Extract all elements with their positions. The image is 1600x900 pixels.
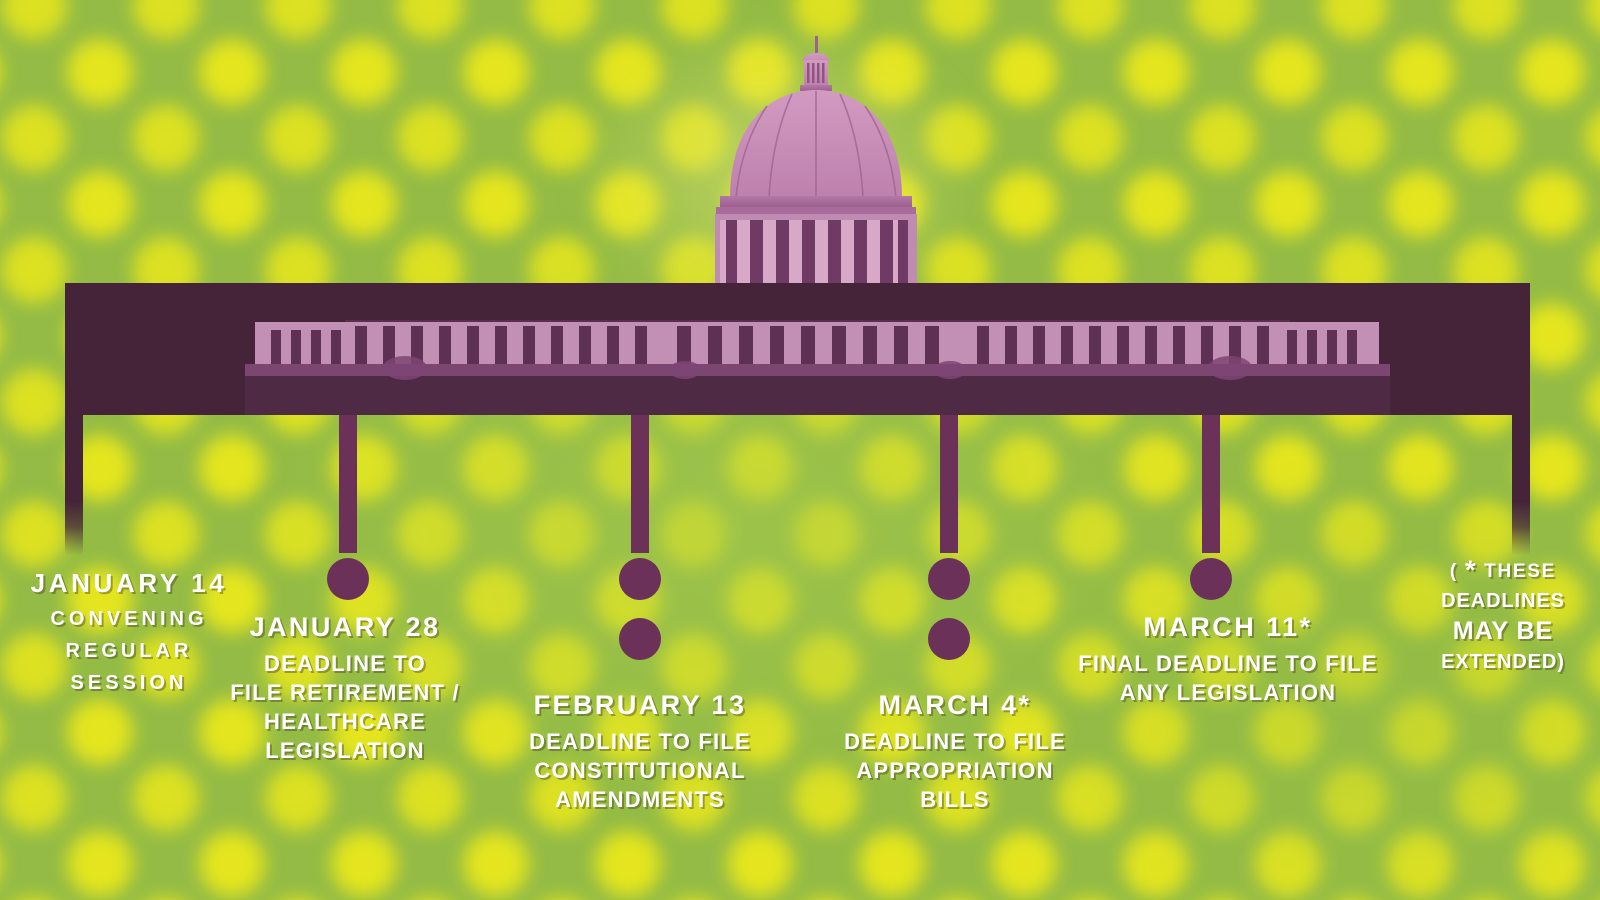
footnote-line-4: Extended) xyxy=(1414,649,1592,676)
dot-march-4-lower xyxy=(928,618,970,660)
dot-february-13-lower xyxy=(619,618,661,660)
milestone-date-january-28: January 28 xyxy=(190,610,500,646)
milestone-label-march-4: March 4* Deadline to File Appropriation … xyxy=(810,688,1100,814)
stem-january-14 xyxy=(65,415,83,555)
stem-february-13 xyxy=(631,415,649,553)
stem-march-4 xyxy=(940,415,958,553)
milestone-desc-january-28: Deadline to File Retirement / Healthcare… xyxy=(190,649,500,765)
dot-february-13-upper xyxy=(619,558,661,600)
stem-march-11 xyxy=(1202,415,1220,553)
footnote-line-3: May Be xyxy=(1414,615,1592,649)
footnote-deadlines-may-be-extended: ( * These Deadlines May Be Extended) xyxy=(1414,552,1592,676)
capitol-building-lower-detail xyxy=(215,283,1420,415)
milestone-desc-february-13: Deadline to File Constitutional Amendmen… xyxy=(495,727,785,814)
milestone-date-january-14: January 14 xyxy=(14,566,244,600)
milestone-date-march-11: March 11* xyxy=(1048,610,1408,646)
stem-january-28 xyxy=(339,415,357,553)
milestone-desc-march-4: Deadline to File Appropriation Bills xyxy=(810,727,1100,814)
milestone-desc-march-11: Final Deadline to File Any Legislation xyxy=(1048,649,1408,707)
stem-right-edge xyxy=(1512,415,1530,555)
dot-january-28 xyxy=(327,558,369,600)
milestone-label-february-13: February 13 Deadline to File Constitutio… xyxy=(495,688,785,814)
milestone-label-march-11: March 11* Final Deadline to File Any Leg… xyxy=(1048,610,1408,707)
footnote-line-1: ( * These xyxy=(1414,552,1592,588)
milestone-label-january-28: January 28 Deadline to File Retirement /… xyxy=(190,610,500,765)
timeline-bar xyxy=(65,283,1530,415)
infographic-canvas: January 14 Convening Regular Session Jan… xyxy=(0,0,1600,900)
dot-march-4-upper xyxy=(928,558,970,600)
dot-march-11 xyxy=(1190,558,1232,600)
asterisk-icon: * xyxy=(1465,555,1477,585)
footnote-line-2: Deadlines xyxy=(1414,588,1592,615)
milestone-date-february-13: February 13 xyxy=(495,688,785,724)
